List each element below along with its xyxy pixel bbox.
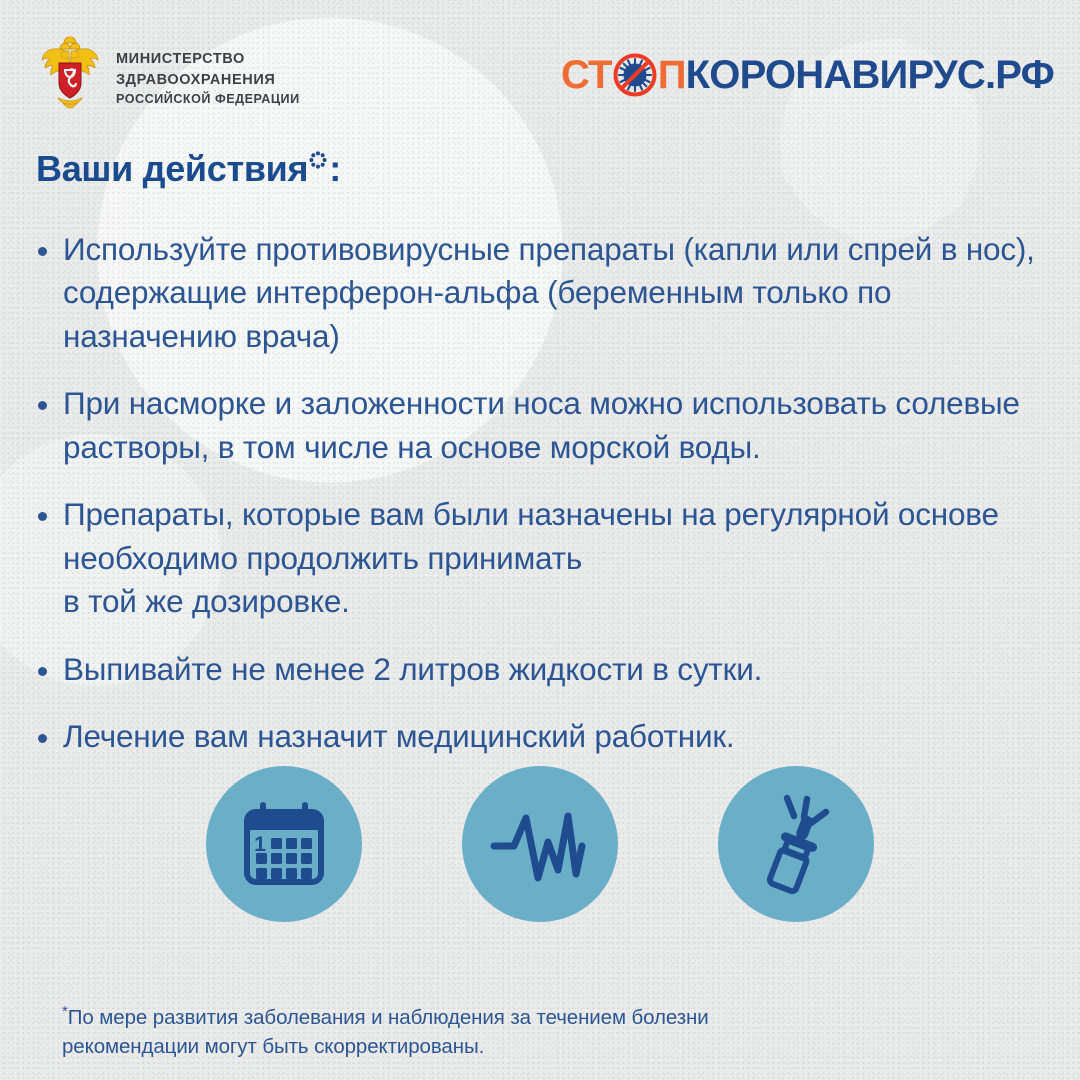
list-item-text: Лечение вам назначит медицинский работни…: [63, 715, 1058, 758]
page-title-text: Ваши действия: [36, 148, 308, 190]
brand-text-p: П: [658, 55, 686, 95]
icon-badge-calendar: 1: [206, 766, 362, 922]
russian-coat-of-arms-eagle-icon: [38, 36, 102, 114]
calendar-icon: 1: [236, 796, 332, 892]
bullet-dot-icon: [38, 401, 47, 410]
ministry-logo: МИНИСТЕРСТВО ЗДРАВООХРАНЕНИЯ РОССИЙСКОЙ …: [38, 36, 300, 114]
brand-text-st: СТ: [561, 55, 612, 95]
list-item: При насморке и заложенности носа можно и…: [34, 382, 1058, 469]
list-item-text: Препараты, которые вам были назначены на…: [63, 493, 1058, 623]
icon-badge-nasal-spray: [718, 766, 874, 922]
footnote: *По мере развития заболевания и наблюден…: [62, 971, 709, 1062]
ministry-line-2: ЗДРАВООХРАНЕНИЯ: [116, 72, 300, 89]
ministry-name: МИНИСТЕРСТВО ЗДРАВООХРАНЕНИЯ РОССИЙСКОЙ …: [116, 43, 300, 106]
brand-text-koronavirus-rf: КОРОНАВИРУС.РФ: [686, 55, 1054, 95]
ministry-line-3: РОССИЙСКОЙ ФЕДЕРАЦИИ: [116, 92, 300, 107]
list-item-text: Выпивайте не менее 2 литров жидкости в с…: [63, 648, 1058, 691]
list-item: Выпивайте не менее 2 литров жидкости в с…: [34, 648, 1058, 691]
bullet-dot-icon: [38, 247, 47, 256]
dot-asterisk-icon: [308, 150, 328, 170]
calendar-day-number: 1: [254, 833, 266, 856]
bullet-dot-icon: [38, 734, 47, 743]
poster-header: МИНИСТЕРСТВО ЗДРАВООХРАНЕНИЯ РОССИЙСКОЙ …: [38, 36, 1054, 120]
list-item: Лечение вам назначит медицинский работни…: [34, 715, 1058, 758]
bullet-dot-icon: [38, 512, 47, 521]
heartbeat-pulse-icon: [488, 798, 592, 890]
page-title-colon: :: [329, 148, 341, 190]
ministry-line-1: МИНИСТЕРСТВО: [116, 51, 300, 68]
nasal-spray-icon: [746, 792, 846, 896]
list-item-text: Используйте противовирусные препараты (к…: [63, 228, 1058, 358]
icon-badge-pulse: [462, 766, 618, 922]
list-item: Используйте противовирусные препараты (к…: [34, 228, 1058, 358]
icon-row: 1: [0, 766, 1080, 922]
list-item: Препараты, которые вам были назначены на…: [34, 493, 1058, 623]
stopcoronavirus-logo[interactable]: СТ: [561, 50, 1054, 100]
virus-prohibited-icon: [610, 50, 660, 100]
page-title: Ваши действия :: [36, 148, 341, 190]
recommendation-list: Используйте противовирусные препараты (к…: [34, 228, 1058, 783]
bullet-dot-icon: [38, 667, 47, 676]
infographic-poster: МИНИСТЕРСТВО ЗДРАВООХРАНЕНИЯ РОССИЙСКОЙ …: [0, 0, 1080, 1080]
list-item-text: При насморке и заложенности носа можно и…: [63, 382, 1058, 469]
footnote-text: По мере развития заболевания и наблюдени…: [62, 1006, 709, 1059]
